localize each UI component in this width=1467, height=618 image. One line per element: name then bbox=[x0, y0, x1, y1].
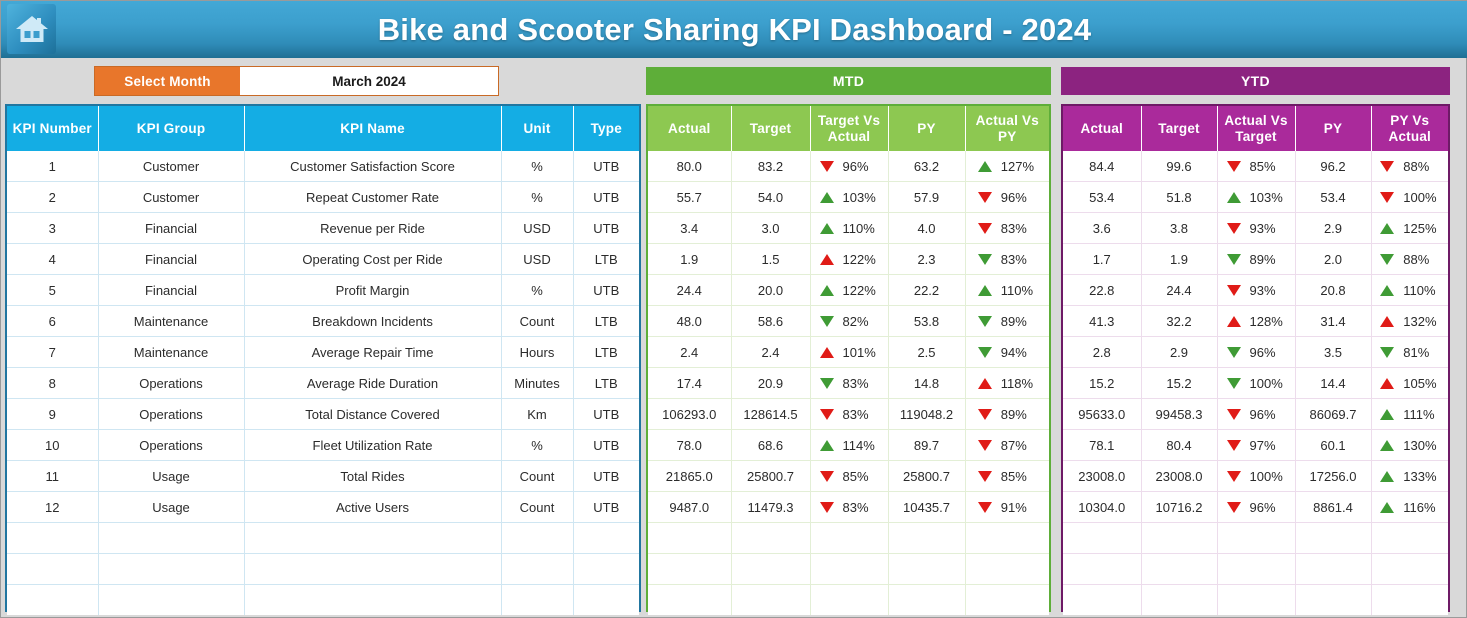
cell-ytd-py: 17256.0 bbox=[1295, 461, 1371, 492]
cell-ytd-actual-vs-target: 97% bbox=[1217, 430, 1295, 461]
cell-ytd-actual: 3.6 bbox=[1063, 213, 1141, 244]
table-row[interactable]: 9OperationsTotal Distance CoveredKmUTB bbox=[7, 399, 639, 430]
cell-mtd-target-vs-actual bbox=[810, 554, 888, 585]
column-header-mtd-py[interactable]: PY bbox=[888, 106, 965, 151]
cell-mtd-py bbox=[888, 523, 965, 554]
arrow-down-icon bbox=[978, 192, 992, 203]
arrow-down-icon bbox=[978, 409, 992, 420]
cell-kpi-group: Usage bbox=[98, 492, 244, 523]
cell-mtd-actual-vs-py bbox=[965, 585, 1049, 616]
cell-mtd-target-vs-actual: 83% bbox=[810, 368, 888, 399]
cell-ytd-target: 23008.0 bbox=[1141, 461, 1217, 492]
cell-kpi-group: Financial bbox=[98, 213, 244, 244]
cell-kpi-group: Financial bbox=[98, 244, 244, 275]
cell-ytd-py bbox=[1295, 523, 1371, 554]
percent-value: 101% bbox=[843, 345, 879, 360]
column-header-ytd-target[interactable]: Target bbox=[1141, 106, 1217, 151]
percent-value: 85% bbox=[1250, 159, 1286, 174]
table-row[interactable]: 3.63.893%2.9125% bbox=[1063, 213, 1448, 244]
arrow-down-icon bbox=[1227, 440, 1241, 451]
table-row[interactable]: 55.754.0103%57.996% bbox=[648, 182, 1049, 213]
table-row[interactable]: 78.068.6114%89.787% bbox=[648, 430, 1049, 461]
cell-mtd-actual: 17.4 bbox=[648, 368, 731, 399]
cell-unit: USD bbox=[501, 213, 573, 244]
cell-mtd-actual: 1.9 bbox=[648, 244, 731, 275]
cell-ytd-py-vs-actual: 132% bbox=[1371, 306, 1448, 337]
cell-ytd-py bbox=[1295, 585, 1371, 616]
cell-ytd-py: 20.8 bbox=[1295, 275, 1371, 306]
cell-ytd-actual bbox=[1063, 554, 1141, 585]
percent-value: 110% bbox=[843, 221, 879, 236]
cell-ytd-py-vs-actual: 116% bbox=[1371, 492, 1448, 523]
cell-mtd-actual-vs-py: 110% bbox=[965, 275, 1049, 306]
select-month-label[interactable]: Select Month bbox=[95, 67, 240, 95]
table-row[interactable]: 95633.099458.396%86069.7111% bbox=[1063, 399, 1448, 430]
cell-kpi-group: Customer bbox=[98, 151, 244, 182]
cell-mtd-target: 1.5 bbox=[731, 244, 810, 275]
cell-mtd-target-vs-actual bbox=[810, 523, 888, 554]
cell-mtd-actual-vs-py: 83% bbox=[965, 244, 1049, 275]
cell-kpi-name: Operating Cost per Ride bbox=[244, 244, 501, 275]
cell-type bbox=[573, 585, 639, 616]
arrow-down-icon bbox=[978, 347, 992, 358]
cell-mtd-actual: 106293.0 bbox=[648, 399, 731, 430]
cell-mtd-py: 2.5 bbox=[888, 337, 965, 368]
percent-value: 96% bbox=[1001, 190, 1037, 205]
percent-value: 125% bbox=[1403, 221, 1439, 236]
column-header-ytd-actual[interactable]: Actual bbox=[1063, 106, 1141, 151]
percent-value: 85% bbox=[843, 469, 879, 484]
arrow-down-icon bbox=[978, 502, 992, 513]
table-row[interactable] bbox=[7, 554, 639, 585]
cell-ytd-py-vs-actual: 81% bbox=[1371, 337, 1448, 368]
cell-ytd-py: 53.4 bbox=[1295, 182, 1371, 213]
cell-kpi-number bbox=[7, 585, 98, 616]
cell-ytd-target: 1.9 bbox=[1141, 244, 1217, 275]
cell-kpi-name bbox=[244, 554, 501, 585]
cell-mtd-actual-vs-py: 89% bbox=[965, 306, 1049, 337]
arrow-down-icon bbox=[978, 471, 992, 482]
column-header-ytd-actual-vs-target[interactable]: Actual Vs Target bbox=[1217, 106, 1295, 151]
percent-value: 133% bbox=[1403, 469, 1439, 484]
arrow-down-icon bbox=[1227, 254, 1241, 265]
column-header-mtd-actual[interactable]: Actual bbox=[648, 106, 731, 151]
mtd-body: 80.083.296%63.2127%55.754.0103%57.996%3.… bbox=[648, 151, 1049, 615]
column-header-kpi-name[interactable]: KPI Name bbox=[244, 106, 501, 151]
cell-type: UTB bbox=[573, 182, 639, 213]
arrow-down-icon bbox=[820, 471, 834, 482]
cell-ytd-py: 86069.7 bbox=[1295, 399, 1371, 430]
cell-kpi-name: Average Repair Time bbox=[244, 337, 501, 368]
cell-ytd-actual: 95633.0 bbox=[1063, 399, 1141, 430]
cell-ytd-py-vs-actual: 100% bbox=[1371, 182, 1448, 213]
ytd-table-block: Actual Target Actual Vs Target PY PY Vs … bbox=[1061, 104, 1450, 612]
table-row[interactable] bbox=[648, 554, 1049, 585]
cell-kpi-name: Customer Satisfaction Score bbox=[244, 151, 501, 182]
cell-ytd-py-vs-actual: 111% bbox=[1371, 399, 1448, 430]
kpi-info-table: KPI Number KPI Group KPI Name Unit Type … bbox=[7, 106, 639, 615]
mtd-table-block: Actual Target Target Vs Actual PY Actual… bbox=[646, 104, 1051, 612]
cell-type: LTB bbox=[573, 306, 639, 337]
cell-kpi-name: Profit Margin bbox=[244, 275, 501, 306]
cell-kpi-group: Maintenance bbox=[98, 306, 244, 337]
percent-value: 83% bbox=[843, 407, 879, 422]
percent-value: 96% bbox=[1250, 345, 1286, 360]
column-header-mtd-target-vs-actual[interactable]: Target Vs Actual bbox=[810, 106, 888, 151]
table-row[interactable]: 17.420.983%14.8118% bbox=[648, 368, 1049, 399]
cell-kpi-name: Total Rides bbox=[244, 461, 501, 492]
cell-mtd-target: 3.0 bbox=[731, 213, 810, 244]
cell-unit: % bbox=[501, 275, 573, 306]
table-row[interactable] bbox=[648, 585, 1049, 616]
cell-kpi-group: Financial bbox=[98, 275, 244, 306]
cell-ytd-actual: 2.8 bbox=[1063, 337, 1141, 368]
arrow-up-icon bbox=[820, 254, 834, 265]
table-row[interactable]: 5FinancialProfit Margin%UTB bbox=[7, 275, 639, 306]
percent-value: 103% bbox=[843, 190, 879, 205]
cell-kpi-number: 10 bbox=[7, 430, 98, 461]
arrow-down-icon bbox=[1227, 471, 1241, 482]
cell-ytd-py: 60.1 bbox=[1295, 430, 1371, 461]
cell-mtd-target: 54.0 bbox=[731, 182, 810, 213]
column-header-mtd-actual-vs-py[interactable]: Actual Vs PY bbox=[965, 106, 1049, 151]
cell-mtd-actual-vs-py: 127% bbox=[965, 151, 1049, 182]
column-header-kpi-number[interactable]: KPI Number bbox=[7, 106, 98, 151]
table-row[interactable] bbox=[648, 523, 1049, 554]
cell-ytd-target bbox=[1141, 523, 1217, 554]
cell-unit: % bbox=[501, 182, 573, 213]
mtd-band: MTD bbox=[646, 67, 1051, 95]
cell-mtd-actual-vs-py: 87% bbox=[965, 430, 1049, 461]
cell-unit: Count bbox=[501, 492, 573, 523]
cell-mtd-target bbox=[731, 523, 810, 554]
percent-value: 89% bbox=[1001, 407, 1037, 422]
cell-unit: USD bbox=[501, 244, 573, 275]
cell-type bbox=[573, 523, 639, 554]
table-row[interactable]: 6MaintenanceBreakdown IncidentsCountLTB bbox=[7, 306, 639, 337]
arrow-down-icon bbox=[1227, 378, 1241, 389]
cell-mtd-actual: 2.4 bbox=[648, 337, 731, 368]
cell-ytd-actual-vs-target: 128% bbox=[1217, 306, 1295, 337]
arrow-down-icon bbox=[1380, 161, 1394, 172]
cell-unit: Km bbox=[501, 399, 573, 430]
cell-type: UTB bbox=[573, 399, 639, 430]
cell-kpi-group: Operations bbox=[98, 399, 244, 430]
cell-ytd-actual bbox=[1063, 523, 1141, 554]
table-row[interactable]: 9487.011479.383%10435.791% bbox=[648, 492, 1049, 523]
arrow-up-icon bbox=[820, 347, 834, 358]
cell-kpi-group: Customer bbox=[98, 182, 244, 213]
table-row[interactable]: 11UsageTotal RidesCountUTB bbox=[7, 461, 639, 492]
percent-value: 97% bbox=[1250, 438, 1286, 453]
cell-ytd-py-vs-actual bbox=[1371, 585, 1448, 616]
percent-value: 118% bbox=[1001, 376, 1037, 391]
percent-value: 89% bbox=[1250, 252, 1286, 267]
cell-mtd-target-vs-actual: 83% bbox=[810, 399, 888, 430]
cell-ytd-actual-vs-target: 96% bbox=[1217, 337, 1295, 368]
cell-kpi-number: 7 bbox=[7, 337, 98, 368]
table-row[interactable]: 1.71.989%2.088% bbox=[1063, 244, 1448, 275]
table-row[interactable]: 3FinancialRevenue per RideUSDUTB bbox=[7, 213, 639, 244]
cell-type: LTB bbox=[573, 244, 639, 275]
percent-value: 89% bbox=[1001, 314, 1037, 329]
table-row[interactable] bbox=[7, 523, 639, 554]
table-row[interactable]: 48.058.682%53.889% bbox=[648, 306, 1049, 337]
table-row[interactable]: 106293.0128614.583%119048.289% bbox=[648, 399, 1049, 430]
cell-type: LTB bbox=[573, 368, 639, 399]
cell-mtd-py: 10435.7 bbox=[888, 492, 965, 523]
table-row[interactable]: 8OperationsAverage Ride DurationMinutesL… bbox=[7, 368, 639, 399]
cell-kpi-name: Fleet Utilization Rate bbox=[244, 430, 501, 461]
cell-ytd-py-vs-actual: 125% bbox=[1371, 213, 1448, 244]
cell-mtd-py: 53.8 bbox=[888, 306, 965, 337]
percent-value: 91% bbox=[1001, 500, 1037, 515]
cell-ytd-actual-vs-target bbox=[1217, 523, 1295, 554]
cell-ytd-py-vs-actual: 130% bbox=[1371, 430, 1448, 461]
table-row[interactable]: 2.42.4101%2.594% bbox=[648, 337, 1049, 368]
arrow-down-icon bbox=[1227, 161, 1241, 172]
percent-value: 100% bbox=[1250, 376, 1286, 391]
cell-mtd-actual: 21865.0 bbox=[648, 461, 731, 492]
cell-mtd-actual-vs-py: 89% bbox=[965, 399, 1049, 430]
ytd-body: 84.499.685%96.288%53.451.8103%53.4100%3.… bbox=[1063, 151, 1448, 615]
cell-ytd-target: 2.9 bbox=[1141, 337, 1217, 368]
column-header-ytd-py[interactable]: PY bbox=[1295, 106, 1371, 151]
percent-value: 127% bbox=[1001, 159, 1037, 174]
cell-unit: % bbox=[501, 151, 573, 182]
cell-unit: Hours bbox=[501, 337, 573, 368]
percent-value: 96% bbox=[1250, 407, 1286, 422]
percent-value: 93% bbox=[1250, 283, 1286, 298]
cell-kpi-number: 11 bbox=[7, 461, 98, 492]
table-row[interactable]: 10304.010716.296%8861.4116% bbox=[1063, 492, 1448, 523]
cell-mtd-target: 68.6 bbox=[731, 430, 810, 461]
percent-value: 88% bbox=[1403, 252, 1439, 267]
column-header-kpi-group[interactable]: KPI Group bbox=[98, 106, 244, 151]
table-row[interactable]: 23008.023008.0100%17256.0133% bbox=[1063, 461, 1448, 492]
cell-mtd-py: 4.0 bbox=[888, 213, 965, 244]
table-row[interactable]: 80.083.296%63.2127% bbox=[648, 151, 1049, 182]
arrow-down-icon bbox=[820, 502, 834, 513]
arrow-down-icon bbox=[820, 409, 834, 420]
cell-type: LTB bbox=[573, 337, 639, 368]
arrow-up-icon bbox=[820, 192, 834, 203]
cell-mtd-target: 2.4 bbox=[731, 337, 810, 368]
cell-ytd-actual-vs-target bbox=[1217, 554, 1295, 585]
table-row[interactable]: 53.451.8103%53.4100% bbox=[1063, 182, 1448, 213]
cell-mtd-py bbox=[888, 585, 965, 616]
cell-mtd-target-vs-actual: 122% bbox=[810, 244, 888, 275]
cell-mtd-actual-vs-py: 85% bbox=[965, 461, 1049, 492]
table-row[interactable]: 12UsageActive UsersCountUTB bbox=[7, 492, 639, 523]
table-row[interactable]: 15.215.2100%14.4105% bbox=[1063, 368, 1448, 399]
arrow-down-icon bbox=[820, 316, 834, 327]
cell-mtd-actual: 80.0 bbox=[648, 151, 731, 182]
table-row[interactable]: 21865.025800.785%25800.785% bbox=[648, 461, 1049, 492]
cell-ytd-actual: 10304.0 bbox=[1063, 492, 1141, 523]
table-row[interactable]: 84.499.685%96.288% bbox=[1063, 151, 1448, 182]
cell-ytd-target: 80.4 bbox=[1141, 430, 1217, 461]
cell-ytd-actual-vs-target: 85% bbox=[1217, 151, 1295, 182]
percent-value: 83% bbox=[843, 376, 879, 391]
cell-mtd-target-vs-actual: 101% bbox=[810, 337, 888, 368]
cell-kpi-number: 2 bbox=[7, 182, 98, 213]
cell-mtd-actual-vs-py: 96% bbox=[965, 182, 1049, 213]
kpi-info-body: 1CustomerCustomer Satisfaction Score%UTB… bbox=[7, 151, 639, 615]
cell-mtd-target: 20.9 bbox=[731, 368, 810, 399]
cell-mtd-target-vs-actual: 110% bbox=[810, 213, 888, 244]
cell-ytd-py: 2.9 bbox=[1295, 213, 1371, 244]
table-row[interactable]: 1.91.5122%2.383% bbox=[648, 244, 1049, 275]
arrow-up-icon bbox=[820, 223, 834, 234]
arrow-up-icon bbox=[1380, 502, 1394, 513]
cell-ytd-actual-vs-target bbox=[1217, 585, 1295, 616]
arrow-up-icon bbox=[1380, 440, 1394, 451]
arrow-down-icon bbox=[1380, 192, 1394, 203]
table-header-row: Actual Target Target Vs Actual PY Actual… bbox=[648, 106, 1049, 151]
arrow-down-icon bbox=[978, 254, 992, 265]
column-header-type[interactable]: Type bbox=[573, 106, 639, 151]
percent-value: 100% bbox=[1403, 190, 1439, 205]
cell-mtd-actual bbox=[648, 585, 731, 616]
cell-mtd-actual: 78.0 bbox=[648, 430, 731, 461]
percent-value: 83% bbox=[843, 500, 879, 515]
cell-kpi-number: 4 bbox=[7, 244, 98, 275]
cell-mtd-target: 128614.5 bbox=[731, 399, 810, 430]
cell-ytd-target: 15.2 bbox=[1141, 368, 1217, 399]
percent-value: 128% bbox=[1250, 314, 1286, 329]
cell-mtd-target: 83.2 bbox=[731, 151, 810, 182]
table-row[interactable]: 2CustomerRepeat Customer Rate%UTB bbox=[7, 182, 639, 213]
cell-kpi-name: Revenue per Ride bbox=[244, 213, 501, 244]
select-month-value[interactable]: March 2024 bbox=[240, 67, 498, 95]
cell-kpi-group bbox=[98, 523, 244, 554]
cell-kpi-group bbox=[98, 585, 244, 616]
percent-value: 100% bbox=[1250, 469, 1286, 484]
cell-ytd-target: 51.8 bbox=[1141, 182, 1217, 213]
cell-kpi-number: 1 bbox=[7, 151, 98, 182]
cell-type: UTB bbox=[573, 275, 639, 306]
cell-ytd-py: 14.4 bbox=[1295, 368, 1371, 399]
cell-ytd-target: 24.4 bbox=[1141, 275, 1217, 306]
controls-row: Select Month March 2024 MTD YTD bbox=[1, 58, 1467, 100]
column-header-mtd-target[interactable]: Target bbox=[731, 106, 810, 151]
table-row[interactable]: 3.43.0110%4.083% bbox=[648, 213, 1049, 244]
cell-kpi-number: 6 bbox=[7, 306, 98, 337]
percent-value: 116% bbox=[1403, 500, 1439, 515]
table-row[interactable]: 22.824.493%20.8110% bbox=[1063, 275, 1448, 306]
cell-ytd-target: 3.8 bbox=[1141, 213, 1217, 244]
cell-ytd-py-vs-actual: 88% bbox=[1371, 244, 1448, 275]
percent-value: 83% bbox=[1001, 221, 1037, 236]
column-header-unit[interactable]: Unit bbox=[501, 106, 573, 151]
cell-type: UTB bbox=[573, 461, 639, 492]
cell-ytd-actual bbox=[1063, 585, 1141, 616]
cell-unit bbox=[501, 554, 573, 585]
percent-value: 132% bbox=[1403, 314, 1439, 329]
cell-unit bbox=[501, 523, 573, 554]
cell-kpi-number: 5 bbox=[7, 275, 98, 306]
cell-kpi-number: 9 bbox=[7, 399, 98, 430]
cell-mtd-py: 119048.2 bbox=[888, 399, 965, 430]
cell-kpi-name: Breakdown Incidents bbox=[244, 306, 501, 337]
table-row[interactable]: 24.420.0122%22.2110% bbox=[648, 275, 1049, 306]
percent-value: 96% bbox=[1250, 500, 1286, 515]
table-row[interactable] bbox=[1063, 523, 1448, 554]
percent-value: 96% bbox=[843, 159, 879, 174]
cell-ytd-actual-vs-target: 93% bbox=[1217, 213, 1295, 244]
month-selector[interactable]: Select Month March 2024 bbox=[95, 67, 498, 95]
arrow-up-icon bbox=[820, 440, 834, 451]
arrow-down-icon bbox=[1227, 223, 1241, 234]
cell-mtd-py bbox=[888, 554, 965, 585]
cell-ytd-actual: 53.4 bbox=[1063, 182, 1141, 213]
cell-mtd-target-vs-actual: 114% bbox=[810, 430, 888, 461]
table-header-row: KPI Number KPI Group KPI Name Unit Type bbox=[7, 106, 639, 151]
column-header-ytd-py-vs-actual[interactable]: PY Vs Actual bbox=[1371, 106, 1448, 151]
arrow-down-icon bbox=[1227, 285, 1241, 296]
cell-kpi-group: Maintenance bbox=[98, 337, 244, 368]
cell-ytd-target: 99.6 bbox=[1141, 151, 1217, 182]
cell-kpi-name: Repeat Customer Rate bbox=[244, 182, 501, 213]
cell-mtd-target: 58.6 bbox=[731, 306, 810, 337]
table-row[interactable]: 7MaintenanceAverage Repair TimeHoursLTB bbox=[7, 337, 639, 368]
cell-kpi-group: Operations bbox=[98, 368, 244, 399]
table-row[interactable]: 78.180.497%60.1130% bbox=[1063, 430, 1448, 461]
cell-mtd-target: 25800.7 bbox=[731, 461, 810, 492]
cell-mtd-actual-vs-py: 91% bbox=[965, 492, 1049, 523]
cell-ytd-py-vs-actual: 105% bbox=[1371, 368, 1448, 399]
table-row[interactable]: 1CustomerCustomer Satisfaction Score%UTB bbox=[7, 151, 639, 182]
cell-kpi-group bbox=[98, 554, 244, 585]
cell-mtd-target: 11479.3 bbox=[731, 492, 810, 523]
percent-value: 81% bbox=[1403, 345, 1439, 360]
percent-value: 114% bbox=[843, 438, 879, 453]
arrow-up-icon bbox=[1380, 409, 1394, 420]
cell-ytd-actual: 22.8 bbox=[1063, 275, 1141, 306]
cell-mtd-actual-vs-py: 94% bbox=[965, 337, 1049, 368]
table-row[interactable] bbox=[1063, 554, 1448, 585]
cell-ytd-actual: 1.7 bbox=[1063, 244, 1141, 275]
percent-value: 83% bbox=[1001, 252, 1037, 267]
arrow-up-icon bbox=[1380, 285, 1394, 296]
cell-mtd-target-vs-actual bbox=[810, 585, 888, 616]
percent-value: 110% bbox=[1001, 283, 1037, 298]
cell-ytd-py-vs-actual: 88% bbox=[1371, 151, 1448, 182]
cell-ytd-actual-vs-target: 100% bbox=[1217, 368, 1295, 399]
arrow-up-icon bbox=[1380, 471, 1394, 482]
ytd-table: Actual Target Actual Vs Target PY PY Vs … bbox=[1063, 106, 1448, 615]
cell-ytd-target: 99458.3 bbox=[1141, 399, 1217, 430]
table-row[interactable] bbox=[7, 585, 639, 616]
table-row[interactable]: 41.332.2128%31.4132% bbox=[1063, 306, 1448, 337]
cell-ytd-actual: 84.4 bbox=[1063, 151, 1141, 182]
table-row[interactable]: 10OperationsFleet Utilization Rate%UTB bbox=[7, 430, 639, 461]
cell-mtd-target: 20.0 bbox=[731, 275, 810, 306]
arrow-down-icon bbox=[978, 223, 992, 234]
percent-value: 93% bbox=[1250, 221, 1286, 236]
cell-ytd-py-vs-actual: 110% bbox=[1371, 275, 1448, 306]
table-row[interactable]: 4FinancialOperating Cost per RideUSDLTB bbox=[7, 244, 639, 275]
cell-unit: % bbox=[501, 430, 573, 461]
table-row[interactable] bbox=[1063, 585, 1448, 616]
arrow-up-icon bbox=[978, 161, 992, 172]
cell-ytd-actual: 41.3 bbox=[1063, 306, 1141, 337]
table-row[interactable]: 2.82.996%3.581% bbox=[1063, 337, 1448, 368]
arrow-up-icon bbox=[1380, 316, 1394, 327]
arrow-up-icon bbox=[978, 378, 992, 389]
cell-unit: Count bbox=[501, 306, 573, 337]
